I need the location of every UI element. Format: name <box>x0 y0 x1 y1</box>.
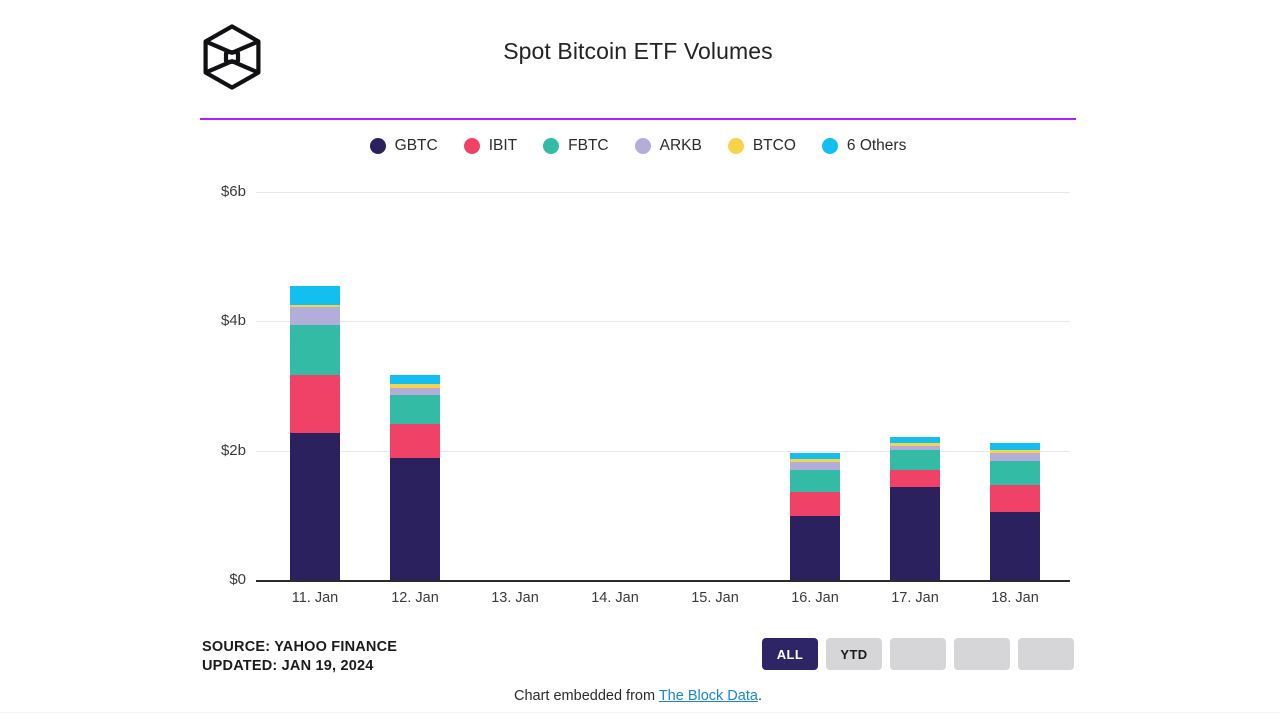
range-button-4[interactable] <box>954 638 1010 670</box>
legend-swatch-icon <box>728 138 744 154</box>
bar-segment <box>290 433 340 580</box>
axis-baseline <box>256 580 1070 582</box>
bar-segment <box>290 375 340 433</box>
legend-item-gbtc[interactable]: GBTC <box>370 137 438 155</box>
legend-label: ARKB <box>660 137 702 155</box>
bar-segment <box>390 424 440 458</box>
x-axis-tick-label: 18. Jan <box>970 590 1060 606</box>
y-axis-tick-label: $4b <box>200 312 246 329</box>
bar-segment <box>390 458 440 580</box>
x-axis: 11. Jan12. Jan13. Jan14. Jan15. Jan16. J… <box>256 590 1070 616</box>
legend-item-btco[interactable]: BTCO <box>728 137 796 155</box>
bar-segment <box>790 462 840 470</box>
x-axis-tick-label: 14. Jan <box>570 590 660 606</box>
bar-segment <box>390 388 440 395</box>
embed-prefix: Chart embedded from <box>514 688 659 704</box>
bar-column[interactable] <box>290 286 340 580</box>
chart-header: Spot Bitcoin ETF Volumes <box>200 18 1076 92</box>
legend-label: BTCO <box>753 137 796 155</box>
legend-label: IBIT <box>489 137 517 155</box>
chart-page: Spot Bitcoin ETF Volumes GBTC IBIT FBTC … <box>0 0 1280 720</box>
bar-segment <box>990 485 1040 512</box>
bar-segment <box>790 492 840 516</box>
chart-plot-area: $0$2b$4b$6b 11. Jan12. Jan13. Jan14. Jan… <box>200 180 1076 600</box>
x-axis-tick-label: 12. Jan <box>370 590 460 606</box>
bar-segment <box>790 470 840 492</box>
chart-card: Spot Bitcoin ETF Volumes GBTC IBIT FBTC … <box>200 0 1076 720</box>
legend-label: FBTC <box>568 137 608 155</box>
range-button-5[interactable] <box>1018 638 1074 670</box>
bar-segment <box>990 443 1040 450</box>
source-block: SOURCE: YAHOO FINANCE UPDATED: JAN 19, 2… <box>202 638 397 676</box>
bar-segment <box>890 487 940 580</box>
embed-suffix: . <box>758 688 762 704</box>
bar-column[interactable] <box>890 437 940 580</box>
bar-segment <box>390 395 440 424</box>
updated-line: UPDATED: JAN 19, 2024 <box>202 657 397 676</box>
x-axis-tick-label: 11. Jan <box>270 590 360 606</box>
legend-swatch-icon <box>464 138 480 154</box>
bar-column[interactable] <box>790 453 840 580</box>
bar-segment <box>790 516 840 580</box>
range-button-ytd[interactable]: YTD <box>826 638 882 670</box>
legend-item-ibit[interactable]: IBIT <box>464 137 517 155</box>
bar-segment <box>990 453 1040 461</box>
legend-swatch-icon <box>370 138 386 154</box>
range-button-3[interactable] <box>890 638 946 670</box>
legend-item-fbtc[interactable]: FBTC <box>543 137 608 155</box>
x-axis-tick-label: 17. Jan <box>870 590 960 606</box>
source-line: SOURCE: YAHOO FINANCE <box>202 638 397 657</box>
bar-column[interactable] <box>990 443 1040 580</box>
bar-segment <box>290 307 340 326</box>
bar-segment <box>990 461 1040 485</box>
chart-legend: GBTC IBIT FBTC ARKB BTCO 6 Others <box>200 137 1076 155</box>
y-axis-tick-label: $0 <box>200 571 246 588</box>
bar-segment <box>290 325 340 375</box>
bottom-hairline <box>0 712 1280 713</box>
page-title: Spot Bitcoin ETF Volumes <box>200 38 1076 65</box>
y-axis-tick-label: $2b <box>200 442 246 459</box>
bar-segment <box>890 450 940 470</box>
bar-segment <box>890 470 940 487</box>
x-axis-tick-label: 13. Jan <box>470 590 560 606</box>
legend-label: 6 Others <box>847 137 906 155</box>
bar-segment <box>290 286 340 305</box>
range-button-all[interactable]: ALL <box>762 638 818 670</box>
bar-column[interactable] <box>390 375 440 580</box>
x-axis-tick-label: 15. Jan <box>670 590 760 606</box>
y-axis-tick-label: $6b <box>200 183 246 200</box>
x-axis-tick-label: 16. Jan <box>770 590 860 606</box>
legend-swatch-icon <box>822 138 838 154</box>
legend-label: GBTC <box>395 137 438 155</box>
the-block-data-link[interactable]: The Block Data <box>659 688 758 704</box>
bar-segment <box>390 375 440 384</box>
bar-segment <box>990 512 1040 580</box>
legend-swatch-icon <box>543 138 559 154</box>
legend-item-arkb[interactable]: ARKB <box>635 137 702 155</box>
embed-note: Chart embedded from The Block Data. <box>200 688 1076 704</box>
range-selector: ALL YTD <box>762 638 1074 670</box>
header-divider <box>200 118 1076 120</box>
legend-swatch-icon <box>635 138 651 154</box>
bar-series-container <box>256 180 1070 580</box>
legend-item-6-others[interactable]: 6 Others <box>822 137 906 155</box>
